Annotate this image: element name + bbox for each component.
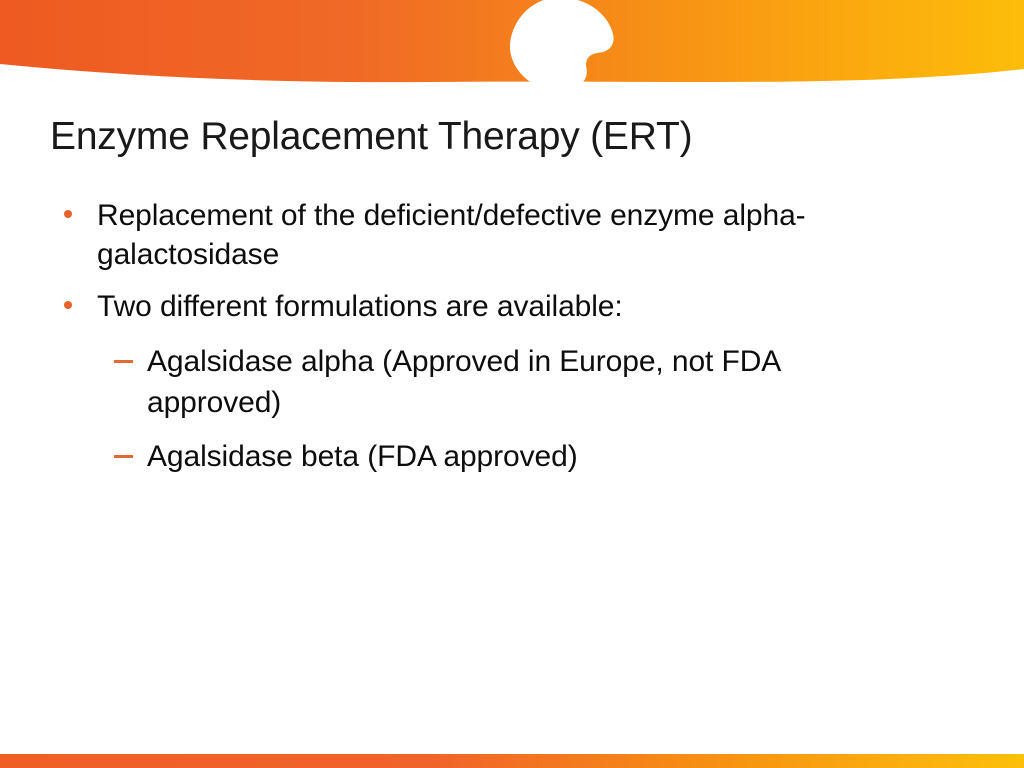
bullet-text: Two different formulations are available… [97,287,623,326]
presentation-slide: National Kidney Foundation® Enzyme Repla… [0,0,1024,768]
bullet-dot-icon [50,196,97,218]
slide-body: Replacement of the deficient/defective e… [50,196,950,479]
kidney-bean-icon [52,0,1024,92]
header-banner: National Kidney Foundation® [0,0,1024,96]
bullet-item-2: Two different formulations are available… [50,287,950,326]
bullet-item-1: Replacement of the deficient/defective e… [50,196,950,274]
sub-bullet-item-2: Agalsidase beta (FDA approved) [50,436,950,477]
sub-bullet-text: Agalsidase alpha (Approved in Europe, no… [147,341,892,423]
slide-title: Enzyme Replacement Therapy (ERT) [50,113,970,161]
sub-bullet-item-1: Agalsidase alpha (Approved in Europe, no… [50,341,950,423]
bullet-dash-icon [50,436,147,458]
bullet-dash-icon [50,341,147,363]
sub-bullet-text: Agalsidase beta (FDA approved) [147,436,578,477]
bullet-dot-icon [50,287,97,309]
footer-accent-bar [0,754,1024,768]
brand-logo: National Kidney Foundation® [52,22,1024,66]
bullet-text: Replacement of the deficient/defective e… [97,196,857,274]
